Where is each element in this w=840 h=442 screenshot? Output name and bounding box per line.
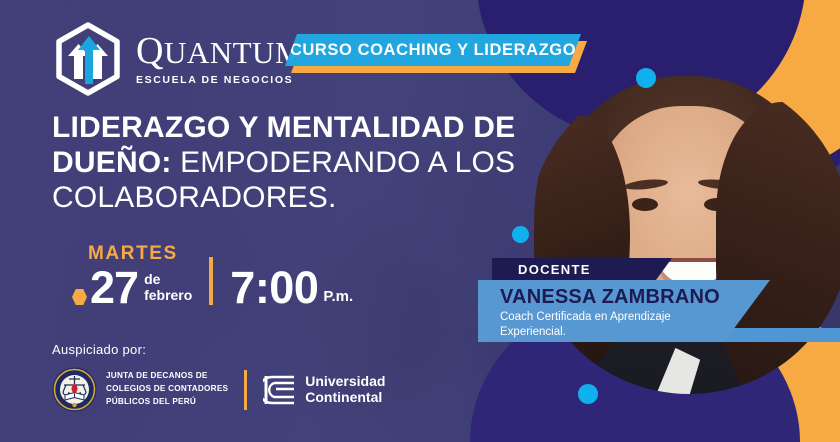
brand-logo: QUANTUM ESCUELA DE NEGOCIOS — [52, 22, 303, 96]
event-time: 7:00 P.m. — [230, 267, 353, 308]
event-datetime: MARTES 27 defebrero 7:00 P.m. — [52, 243, 353, 308]
course-tag: CURSO COACHING Y LIDERAZGO — [285, 34, 581, 66]
brand-tagline: ESCUELA DE NEGOCIOS — [136, 75, 303, 86]
universidad-continental-book-icon — [263, 374, 297, 406]
page-title: LIDERAZGO Y MENTALIDAD DE DUEÑO: EMPODER… — [52, 110, 522, 215]
sponsor-divider-icon — [244, 370, 247, 410]
cyan-dot-decor — [636, 68, 656, 88]
brand-name: QUANTUM — [136, 32, 303, 70]
event-day-number: 27 — [90, 267, 138, 308]
course-tag-label: CURSO COACHING Y LIDERAZGO — [290, 41, 576, 60]
hexagon-bullet-icon — [72, 289, 87, 305]
universidad-continental-name: Universidad Continental — [305, 374, 385, 405]
junta-de-decanos-name: JUNTA DE DECANOS DE COLEGIOS DE CONTADOR… — [106, 370, 228, 408]
speaker-role-label: DOCENTE — [518, 262, 591, 277]
event-date: MARTES 27 defebrero — [52, 243, 192, 308]
sponsors-title: Auspiciado por: — [52, 342, 385, 357]
event-promo-banner: QUANTUM ESCUELA DE NEGOCIOS CURSO COACHI… — [0, 0, 840, 442]
event-month: defebrero — [144, 271, 192, 303]
speaker-info: VANESSA ZAMBRANO Coach Certificada en Ap… — [478, 280, 770, 342]
vertical-divider-icon — [209, 257, 213, 305]
event-time-value: 7:00 — [230, 267, 318, 308]
junta-de-decanos-seal-icon — [52, 367, 97, 412]
sponsors-section: Auspiciado por: JUNTA DE DECANOS DE COLE… — [52, 342, 385, 412]
cyan-dot-decor — [578, 384, 598, 404]
speaker-name: VANESSA ZAMBRANO — [500, 286, 770, 308]
course-tag-body: CURSO COACHING Y LIDERAZGO — [285, 34, 581, 66]
hexagon-growth-arrows-icon — [52, 22, 124, 96]
event-time-meridiem: P.m. — [323, 288, 353, 305]
cyan-dot-decor — [512, 226, 529, 243]
status-badge: DOCENTE — [492, 258, 672, 280]
universidad-continental-logo: Universidad Continental — [263, 374, 385, 406]
